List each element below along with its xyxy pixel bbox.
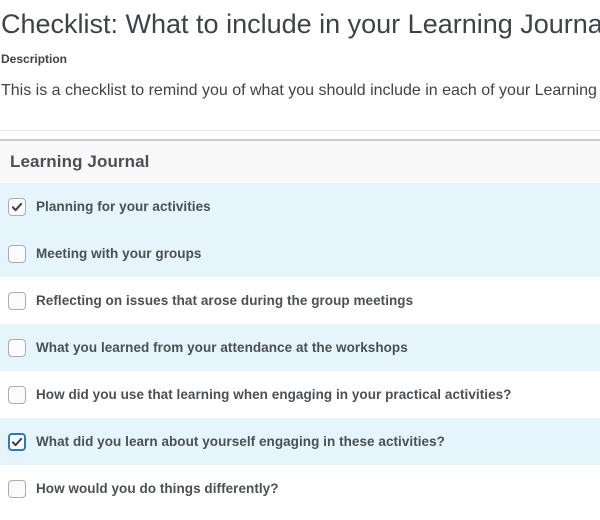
checklist-row[interactable]: Planning for your activities xyxy=(0,183,600,230)
checkbox-unchecked-icon[interactable] xyxy=(8,339,26,357)
checklist-row[interactable]: Meeting with your groups xyxy=(0,230,600,277)
checklist: Planning for your activitiesMeeting with… xyxy=(0,183,600,512)
group-header-title: Learning Journal xyxy=(10,152,150,172)
description-label: Description xyxy=(0,40,600,66)
checklist-row-label: What did you learn about yourself engagi… xyxy=(36,433,445,450)
checkbox-unchecked-icon[interactable] xyxy=(8,292,26,310)
checklist-row[interactable]: Reflecting on issues that arose during t… xyxy=(0,277,600,324)
checkbox-checked-icon[interactable] xyxy=(8,198,26,216)
checklist-row-label: Reflecting on issues that arose during t… xyxy=(36,292,413,309)
group-header: Learning Journal xyxy=(0,139,600,183)
checklist-row[interactable]: How would you do things differently? xyxy=(0,465,600,512)
description-text: This is a checklist to remind you of wha… xyxy=(0,66,600,102)
page-title: Checklist: What to include in your Learn… xyxy=(0,0,600,40)
checkbox-unchecked-icon[interactable] xyxy=(8,245,26,263)
section-divider xyxy=(0,130,600,131)
checklist-row[interactable]: How did you use that learning when engag… xyxy=(0,371,600,418)
checkbox-checked-icon[interactable] xyxy=(8,433,26,451)
checklist-row-label: Meeting with your groups xyxy=(36,245,201,262)
checklist-row-label: How would you do things differently? xyxy=(36,480,279,497)
checklist-row[interactable]: What did you learn about yourself engagi… xyxy=(0,418,600,465)
checkbox-unchecked-icon[interactable] xyxy=(8,386,26,404)
checklist-rows: Planning for your activitiesMeeting with… xyxy=(0,183,600,512)
checklist-row-label: How did you use that learning when engag… xyxy=(36,386,511,403)
checklist-row[interactable]: What you learned from your attendance at… xyxy=(0,324,600,371)
checklist-row-label: Planning for your activities xyxy=(36,198,211,215)
checkbox-unchecked-icon[interactable] xyxy=(8,480,26,498)
checklist-row-label: What you learned from your attendance at… xyxy=(36,339,408,356)
checklist-page: Checklist: What to include in your Learn… xyxy=(0,0,600,520)
